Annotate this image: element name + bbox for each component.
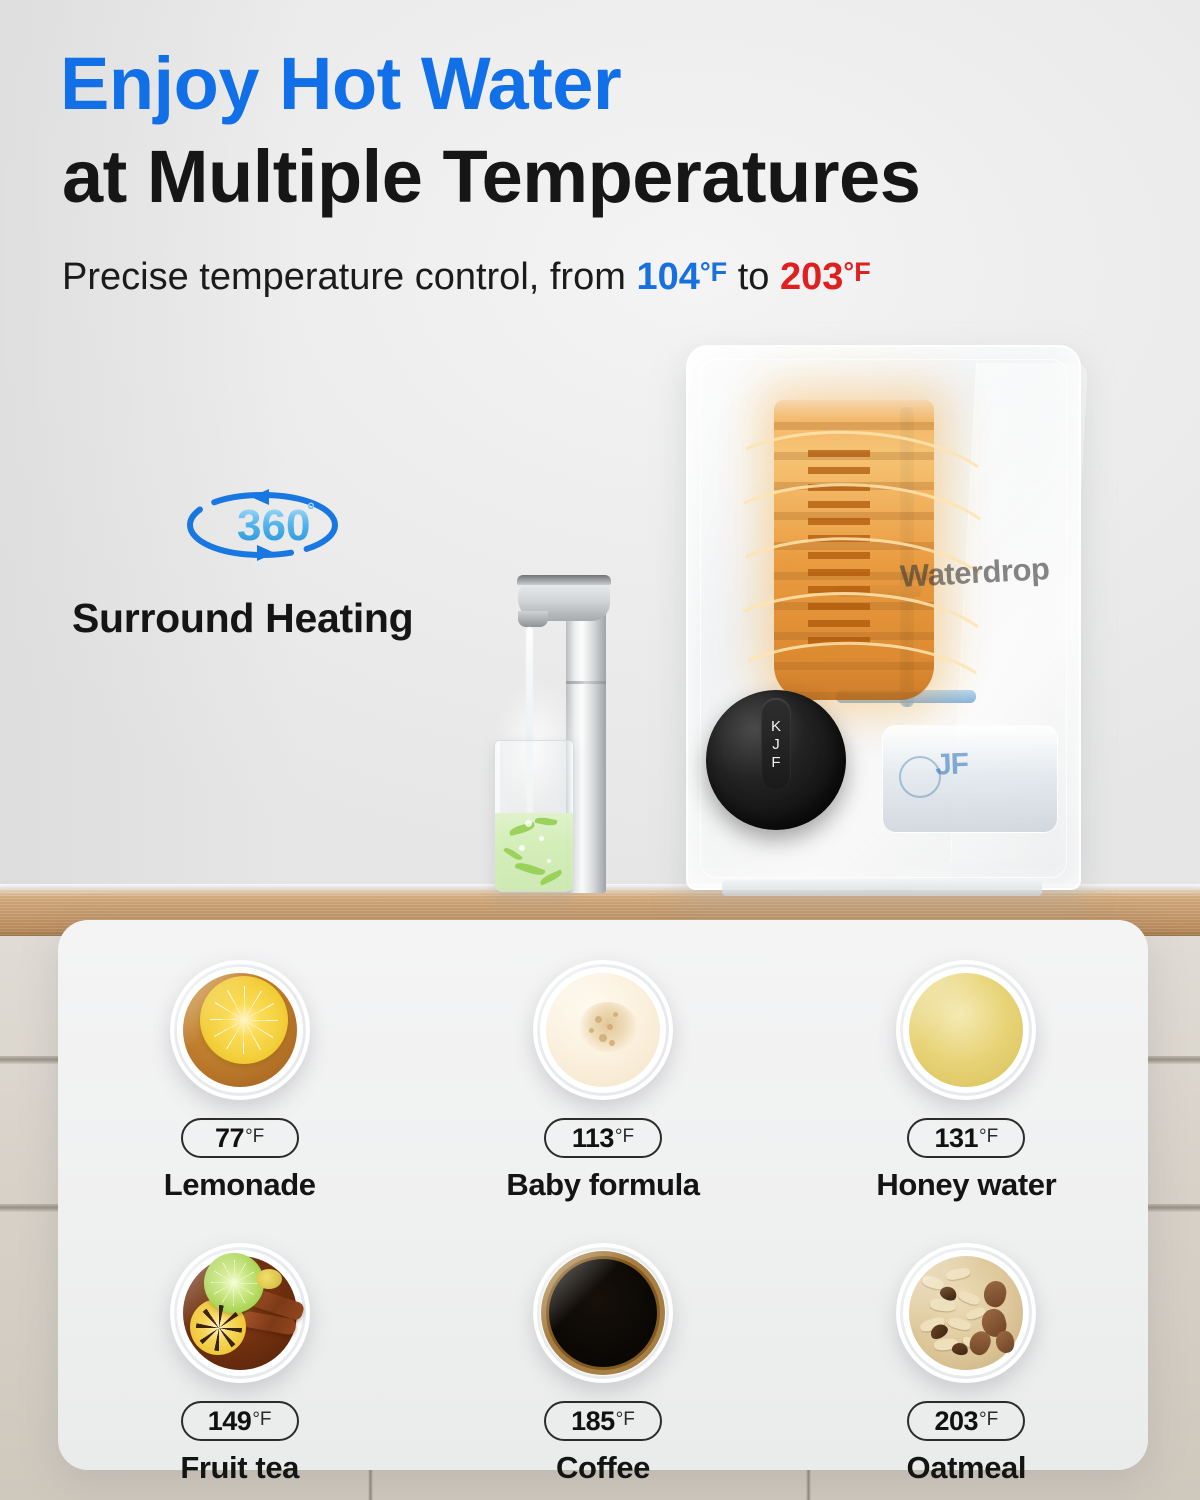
drink-label: Baby formula (506, 1167, 699, 1203)
temperature-badge: 185 °F (544, 1401, 662, 1441)
foam-bubble (595, 1016, 602, 1023)
glass-cup (170, 1243, 310, 1383)
subtitle: Precise temperature control, from 104°F … (62, 256, 871, 299)
temperature-value: 113 (572, 1123, 614, 1154)
foam-bubble (609, 1040, 615, 1046)
headline-line-1: Enjoy Hot Water (60, 47, 621, 121)
lime-slice-garnish (204, 1253, 264, 1313)
360-value: 360 (237, 501, 310, 550)
bubble (519, 845, 525, 851)
bubble (539, 836, 544, 841)
coffee-crema-ring (541, 1251, 665, 1375)
temperature-value: 149 (208, 1406, 252, 1437)
knob-indicator: K J F (761, 698, 791, 790)
drink-grid: 77 °F Lemonade 11 (58, 920, 1148, 1470)
dried-herb-garnish (256, 1269, 282, 1289)
knob-letter-f: F (771, 755, 780, 770)
drink-cell-fruit-tea: 149 °F Fruit tea (58, 1203, 421, 1486)
temperature-value: 77 (215, 1123, 244, 1154)
knob-letter-k: K (771, 719, 781, 734)
subtitle-connector: to (738, 256, 770, 298)
degree-symbol: ° (307, 500, 315, 522)
water-dispenser-unit: Waterdrop JF K J F (686, 345, 1081, 890)
drink-cell-coffee: 185 °F Coffee (421, 1203, 784, 1486)
glass-cup (896, 1243, 1036, 1383)
temperature-value: 185 (571, 1406, 615, 1437)
surround-heating-label: Surround Heating (72, 595, 413, 642)
headline-line-2: at Multiple Temperatures (62, 140, 920, 214)
faucet-spout (518, 611, 548, 627)
drink-cell-honey-water: 131 °F Honey water (785, 920, 1148, 1203)
cup-coffee (533, 1243, 673, 1383)
cup-baby-formula (533, 960, 673, 1100)
filter-cartridge: JF (882, 725, 1058, 833)
temperature-badge: 113 °F (544, 1118, 662, 1158)
drink-label: Honey water (876, 1167, 1056, 1203)
temperature-unit: °F (252, 1409, 271, 1431)
foam-bubble (599, 1034, 607, 1042)
temperature-unit: °F (979, 1126, 998, 1148)
drink-cell-oatmeal: 203 °F Oatmeal (785, 1203, 1148, 1486)
temperature-unit: °F (245, 1126, 264, 1148)
drink-label: Coffee (556, 1450, 650, 1486)
heating-coil (808, 440, 870, 650)
drink-cell-baby-formula: 113 °F Baby formula (421, 920, 784, 1203)
drinking-glass (494, 740, 574, 892)
drink-liquid (909, 973, 1023, 1087)
drink-label: Lemonade (164, 1167, 316, 1203)
unit-base (722, 880, 1042, 896)
glass-cup (896, 960, 1036, 1100)
glass-cup (533, 1243, 673, 1383)
subtitle-prefix: Precise temperature control, from (62, 256, 626, 298)
temperature-badge: 77 °F (181, 1118, 299, 1158)
foam-bubble (607, 1024, 613, 1030)
cup-oatmeal (896, 1243, 1036, 1383)
foam-bubble (613, 1012, 618, 1017)
faucet-cap (517, 575, 611, 585)
temperature-unit: °F (979, 1409, 998, 1431)
bubble (525, 820, 532, 827)
subtitle-low-temp: 104°F (636, 256, 727, 298)
lemon-slice-garnish (200, 976, 288, 1064)
360-rotation-icon: 360 ° (185, 487, 340, 562)
foam-bubble (589, 1028, 594, 1033)
cup-fruit-tea (170, 1243, 310, 1383)
temperature-unit: °F (615, 1126, 634, 1148)
drink-temperature-card: 77 °F Lemonade 11 (58, 920, 1148, 1470)
temperature-badge: 131 °F (907, 1118, 1025, 1158)
temperature-value: 131 (934, 1123, 978, 1154)
glass-cup (533, 960, 673, 1100)
temperature-badge: 203 °F (907, 1401, 1025, 1441)
star-anise-garnish (196, 1305, 242, 1351)
knob-letter-j: J (772, 737, 780, 752)
temperature-value: 203 (934, 1406, 978, 1437)
drink-label: Fruit tea (180, 1450, 299, 1486)
subtitle-high-temp: 203°F (780, 256, 871, 298)
cup-lemonade (170, 960, 310, 1100)
drink-label: Oatmeal (907, 1450, 1027, 1486)
glass-cup (170, 960, 310, 1100)
filter-model-label: JF (934, 747, 968, 782)
cup-honey-water (896, 960, 1036, 1100)
temperature-badge: 149 °F (181, 1401, 299, 1441)
temperature-knob[interactable]: K J F (706, 690, 846, 830)
bubble (547, 859, 551, 863)
drink-cell-lemonade: 77 °F Lemonade (58, 920, 421, 1203)
temperature-unit: °F (616, 1409, 635, 1431)
